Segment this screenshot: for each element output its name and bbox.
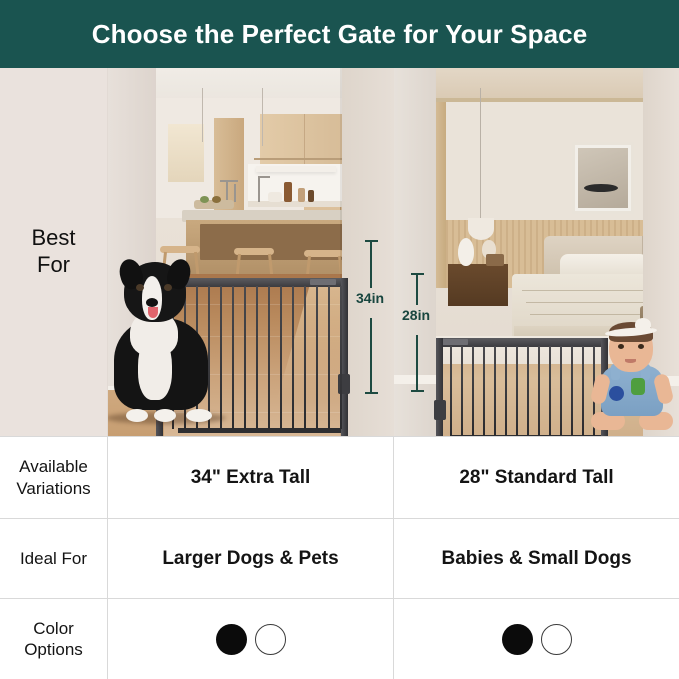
cell-value: Larger Dogs & Pets bbox=[162, 548, 338, 570]
standard-baby-gate-right bbox=[436, 338, 608, 436]
measurement-28in: 28in bbox=[410, 273, 450, 392]
border-collie-dog bbox=[110, 262, 220, 422]
row-label-line1: Best bbox=[31, 225, 75, 252]
hero-comparison-strip: Best For bbox=[0, 68, 679, 436]
measurement-28in-label: 28in bbox=[402, 307, 430, 323]
comparison-table: Available Variations 34" Extra Tall 28" … bbox=[0, 436, 679, 679]
row-label-line2: Variations bbox=[16, 478, 90, 499]
row-label-line2: For bbox=[31, 252, 75, 279]
row-label-line1: Color bbox=[24, 618, 83, 639]
row-label-text: Best For bbox=[31, 225, 75, 279]
table-row: Available Variations 34" Extra Tall 28" … bbox=[0, 436, 679, 518]
page-banner: Choose the Perfect Gate for Your Space bbox=[0, 0, 679, 68]
cell-ideal-for-col-b: Babies & Small Dogs bbox=[394, 519, 679, 598]
cell-color-options-col-a bbox=[108, 599, 394, 679]
measurement-34in: 34in bbox=[364, 240, 404, 394]
page-title: Choose the Perfect Gate for Your Space bbox=[92, 19, 588, 50]
cell-value: 28" Standard Tall bbox=[459, 467, 613, 489]
color-swatch-black[interactable] bbox=[502, 624, 533, 655]
cell-value: Babies & Small Dogs bbox=[441, 548, 631, 570]
kitchen-with-dog-photo bbox=[108, 68, 394, 436]
row-label-available-variations: Available Variations bbox=[0, 437, 108, 518]
color-swatch-group-a bbox=[216, 624, 286, 655]
color-swatch-black[interactable] bbox=[216, 624, 247, 655]
row-label-best-for: Best For bbox=[0, 68, 108, 436]
row-label-line1: Ideal For bbox=[20, 548, 87, 569]
table-row: Ideal For Larger Dogs & Pets Babies & Sm… bbox=[0, 518, 679, 598]
kitchen-scene bbox=[108, 68, 394, 436]
row-label-ideal-for: Ideal For bbox=[0, 519, 108, 598]
baby-figure bbox=[591, 318, 673, 430]
measurement-34in-label: 34in bbox=[356, 290, 384, 306]
row-label-color-options: Color Options bbox=[0, 599, 108, 679]
cell-value: 34" Extra Tall bbox=[191, 467, 311, 489]
cell-color-options-col-b bbox=[394, 599, 679, 679]
cell-variations-col-b: 28" Standard Tall bbox=[394, 437, 679, 518]
color-swatch-white[interactable] bbox=[541, 624, 572, 655]
comparison-infographic: Choose the Perfect Gate for Your Space B… bbox=[0, 0, 679, 679]
row-label-line1: Available bbox=[16, 456, 90, 477]
cell-variations-col-a: 34" Extra Tall bbox=[108, 437, 394, 518]
color-swatch-group-b bbox=[502, 624, 572, 655]
cell-ideal-for-col-a: Larger Dogs & Pets bbox=[108, 519, 394, 598]
color-swatch-white[interactable] bbox=[255, 624, 286, 655]
table-row: Color Options bbox=[0, 598, 679, 679]
row-label-line2: Options bbox=[24, 639, 83, 660]
